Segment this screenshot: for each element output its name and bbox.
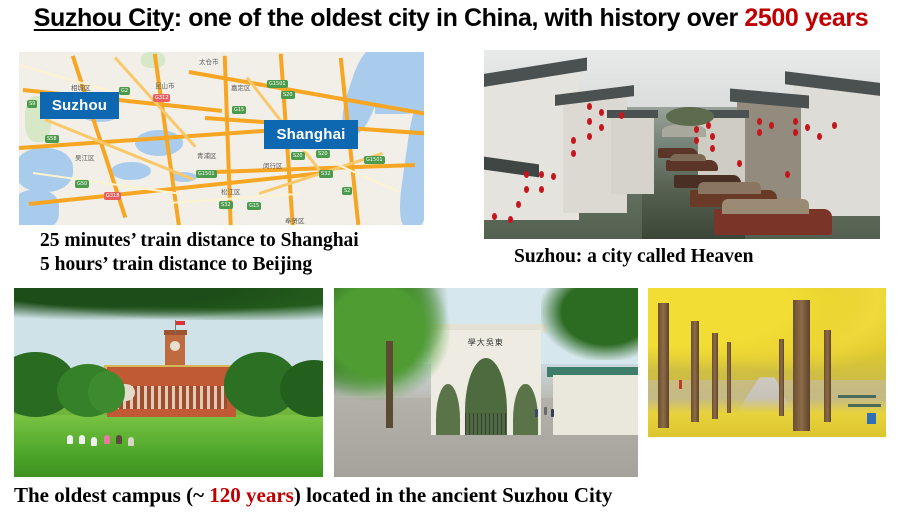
map-shield-g15-n: G15 [232,106,246,114]
caption-suzhou-heaven: Suzhou: a city called Heaven [514,246,753,268]
map-water-lake-mid2 [111,162,151,180]
gate-tree-right [541,288,638,360]
gate-side-wall [553,375,638,435]
map-label-wujiang: 吴江区 [75,152,95,162]
canal-lantern [805,124,810,131]
map-shield-s20-c2: S20 [316,150,330,158]
canal-lantern [710,133,715,140]
ginkgo-person [679,380,682,389]
map-shield-s20-n: S20 [281,91,295,99]
map-label-songjiang: 松江区 [221,186,241,196]
canal-boat-canopy [722,199,809,214]
ginkgo-trunk [658,303,670,428]
campus-foreground-canopy [14,288,323,320]
ginkgo-bench [838,395,876,398]
campus-student [128,437,134,446]
caption-campus-prefix: The oldest campus (~ [14,483,209,507]
map-shield-s9: S9 [27,100,37,108]
map-shield-g50: G50 [75,180,89,188]
campus-tree [88,371,125,413]
canal-house-left-3 [611,114,655,193]
map-shield-g2: G2 [119,87,130,95]
caption-train-distance: 25 minutes’ train distance to Shanghai 5… [40,229,359,277]
map-shield-g1501-n: G1501 [267,80,288,88]
photo-campus-gate: 學大吳東 [334,288,638,477]
map-shield-s20-c1: S20 [291,152,305,160]
canal-stone-bridge [662,124,706,137]
map-shield-s58: S58 [45,135,59,143]
canal-lantern [516,201,521,208]
ginkgo-trunk [779,339,784,416]
map-city-label-shanghai: Shanghai [264,120,358,149]
photo-suzhou-canal [484,50,880,239]
canal-lantern [793,118,798,125]
map-shield-s2: S2 [342,187,352,195]
map-label-jiading: 嘉定区 [231,82,251,92]
campus-clock-face [170,341,181,351]
canal-lantern [769,122,774,129]
map-label-minhang: 闵行区 [263,160,283,170]
canal-lantern [710,145,715,152]
caption-campus-highlight: 120 years [209,483,294,507]
photo-oldest-campus [14,288,323,477]
map-label-taicang: 太仓市 [199,56,219,66]
canal-boat-canopy [670,154,706,162]
page-title: Suzhou City: one of the oldest city in C… [0,4,902,33]
campus-lawn [14,415,323,477]
map-label-xiangcheng: 相城区 [71,82,91,92]
canal-lantern [492,213,497,220]
canal-lantern [587,103,592,110]
canal-lantern [599,109,604,116]
gate-pedestrian [551,409,554,417]
page-title-mid: : one of the oldest city in China, with … [174,4,745,32]
canal-lantern [785,171,790,178]
map-shield-g318: G318 [104,192,121,200]
canal-lantern [619,112,624,119]
gate-pedestrian [535,409,538,417]
map-label-qingpu: 青浦区 [197,150,217,160]
canal-lantern [706,122,711,129]
canal-lantern [599,124,604,131]
gate-pedestrian [544,407,547,415]
canal-lantern [524,171,529,178]
caption-campus-suffix: ) located in the ancient Suzhou City [294,483,613,507]
canal-boat-canopy [698,182,761,193]
photo-ginkgo-path [648,288,886,437]
map-shield-g1501-c: G1501 [196,170,217,178]
gate-inscription: 學大吳東 [468,337,504,348]
caption-train-line2: 5 hours’ train distance to Beijing [40,253,359,277]
ginkgo-trunk [824,330,831,422]
canal-lantern [694,126,699,133]
canal-boat [666,160,717,171]
canal-lantern [587,118,592,125]
canal-lantern [524,186,529,193]
campus-student [67,435,73,444]
canal-lantern [694,137,699,144]
map-shield-g1501-e: G1501 [364,156,385,164]
canal-lantern [817,133,822,140]
canal-lantern [508,216,513,223]
page-title-highlight: 2500 years [744,4,868,32]
page-title-underlined: Suzhou City [34,4,174,32]
ginkgo-trunk [712,333,718,419]
map-water-lake-mid [135,130,183,156]
map-water-lake-west [19,148,73,192]
map-shield-g312: G312 [153,94,170,102]
suzhou-shanghai-map: 太仓市 昆山市 相城区 嘉定区 青浦区 闵行区 松江区 吴江区 奉贤区 S9 G… [19,52,424,225]
ginkgo-canopy [648,288,886,380]
map-city-label-suzhou: Suzhou [40,92,119,119]
campus-student [104,435,110,444]
map-shield-s32-s: S32 [219,201,233,209]
ginkgo-trunk [691,321,699,422]
caption-train-line1: 25 minutes’ train distance to Shanghai [40,229,359,253]
ginkgo-trunk [727,342,732,414]
ginkgo-bench [848,404,881,407]
map-label-fengxian: 奉贤区 [285,215,305,225]
canal-roof-left-3 [607,110,658,118]
campus-student [91,437,97,446]
campus-flag [176,321,185,326]
ginkgo-trunk [793,300,810,431]
ginkgo-bin [867,413,877,423]
map-canvas: 太仓市 昆山市 相城区 嘉定区 青浦区 闵行区 松江区 吴江区 奉贤区 S9 G… [19,52,424,225]
caption-oldest-campus: The oldest campus (~ 120 years) located … [14,483,612,508]
map-water-coast [396,97,424,225]
map-shield-g15-s: G15 [247,202,261,210]
map-water-taihu-edge [19,190,59,225]
map-label-kunshan: 昆山市 [155,80,175,90]
campus-student [79,435,85,444]
map-shield-s32-e: S32 [319,170,333,178]
gate-iron-fence [465,413,508,436]
campus-student [116,435,122,444]
gate-tree-trunk-left [386,341,394,428]
